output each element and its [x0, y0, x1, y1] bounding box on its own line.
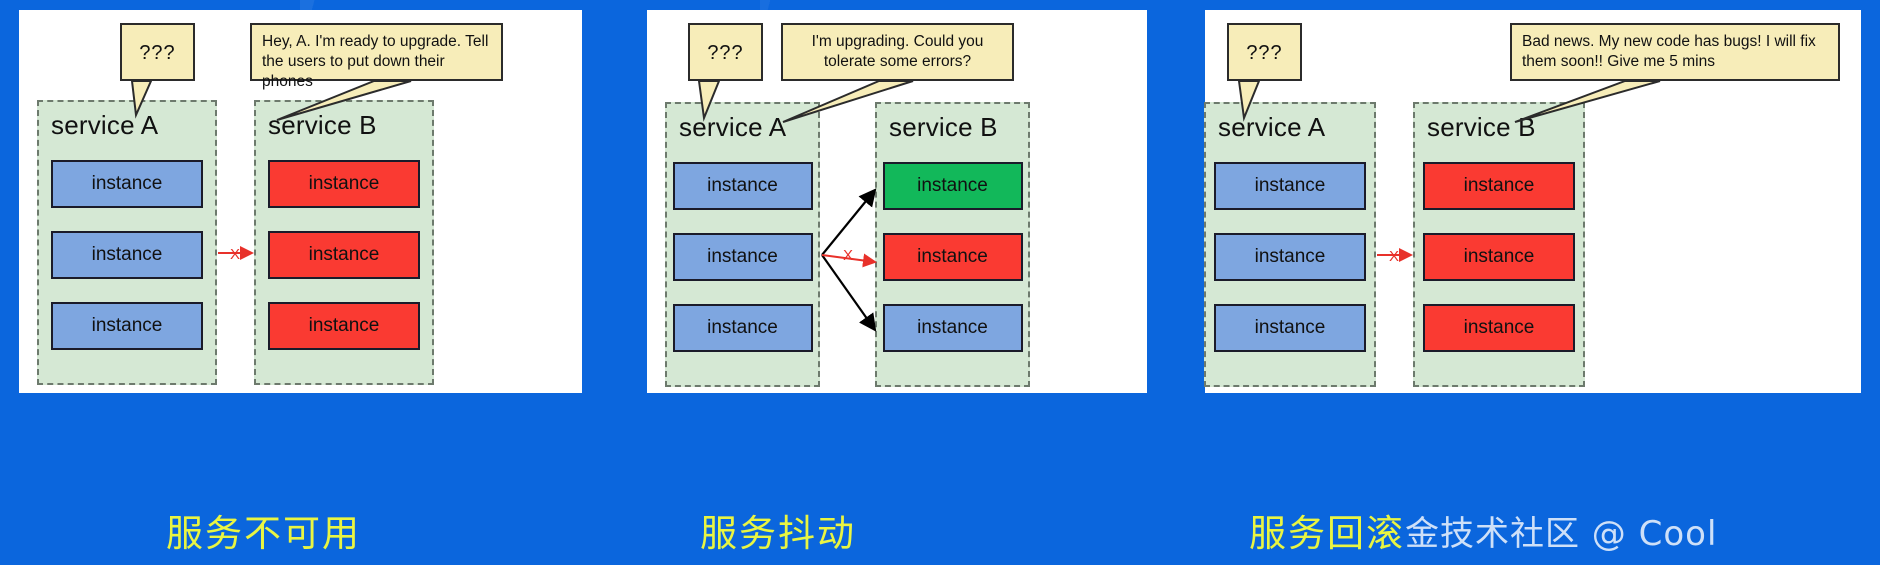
instance-label: instance [1255, 175, 1326, 197]
panel-service-jitter: ??? I'm upgrading. Could you tolerate so… [647, 10, 1147, 393]
service-b-container: service B instance instance instance [254, 100, 434, 385]
service-b-instance-3[interactable]: instance [268, 302, 420, 350]
service-b-instance-1[interactable]: instance [268, 160, 420, 208]
instance-label: instance [92, 244, 163, 266]
caption-panel-2: 服务抖动 [700, 503, 856, 557]
instance-label: instance [707, 317, 778, 339]
service-a-instance-2[interactable]: instance [673, 233, 813, 281]
service-b-title: service B [889, 112, 998, 143]
service-a-instance-2[interactable]: instance [1214, 233, 1366, 281]
service-a-title: service A [679, 112, 786, 143]
instance-label: instance [917, 246, 988, 268]
service-a-container: service A instance instance instance [37, 100, 217, 385]
instance-label: instance [1464, 246, 1535, 268]
instance-label: instance [1464, 317, 1535, 339]
service-b-container: service B instance instance instance [875, 102, 1030, 387]
service-a-container: service A instance instance instance [1204, 102, 1376, 387]
diagram-stage: ??? Hey, A. I'm ready to upgrade. Tell t… [0, 0, 1880, 565]
service-b-container: service B instance instance instance [1413, 102, 1585, 387]
speech-bubble-service-a: ??? [120, 23, 195, 81]
caption-panel-3: 服务回滚 [1249, 503, 1405, 557]
panel-service-rollback: ??? Bad news. My new code has bugs! I wi… [1205, 10, 1861, 393]
service-b-instance-2[interactable]: instance [883, 233, 1023, 281]
speech-bubble-service-a: ??? [688, 23, 763, 81]
instance-label: instance [707, 175, 778, 197]
instance-label: instance [309, 315, 380, 337]
caption-panel-1: 服务不可用 [166, 503, 361, 557]
instance-label: instance [309, 244, 380, 266]
service-b-instance-1[interactable]: instance [1423, 162, 1575, 210]
panel-service-unavailable: ??? Hey, A. I'm ready to upgrade. Tell t… [19, 10, 582, 393]
instance-label: instance [707, 246, 778, 268]
service-b-instance-2[interactable]: instance [1423, 233, 1575, 281]
instance-label: instance [917, 317, 988, 339]
service-a-instance-1[interactable]: instance [1214, 162, 1366, 210]
service-b-instance-2[interactable]: instance [268, 231, 420, 279]
service-a-container: service A instance instance instance [665, 102, 820, 387]
service-a-title: service A [1218, 112, 1325, 143]
instance-label: instance [92, 173, 163, 195]
service-b-title: service B [1427, 112, 1536, 143]
service-b-instance-1[interactable]: instance [883, 162, 1023, 210]
service-a-instance-3[interactable]: instance [1214, 304, 1366, 352]
speech-bubble-service-b: I'm upgrading. Could you tolerate some e… [781, 23, 1014, 81]
service-a-title: service A [51, 110, 158, 141]
svg-text:X: X [1389, 248, 1399, 265]
instance-label: instance [1255, 317, 1326, 339]
service-b-title: service B [268, 110, 377, 141]
speech-bubble-service-b: Bad news. My new code has bugs! I will f… [1510, 23, 1840, 81]
service-a-instance-1[interactable]: instance [673, 162, 813, 210]
instance-label: instance [309, 173, 380, 195]
service-a-instance-2[interactable]: instance [51, 231, 203, 279]
instance-label: instance [1255, 246, 1326, 268]
service-a-instance-3[interactable]: instance [673, 304, 813, 352]
instance-label: instance [1464, 175, 1535, 197]
service-b-instance-3[interactable]: instance [1423, 304, 1575, 352]
instance-label: instance [917, 175, 988, 197]
instance-label: instance [92, 315, 163, 337]
svg-text:X: X [230, 246, 240, 263]
service-a-instance-3[interactable]: instance [51, 302, 203, 350]
watermark-text: 金技术社区 @ Cool [1405, 506, 1717, 555]
service-b-instance-3[interactable]: instance [883, 304, 1023, 352]
speech-bubble-service-b: Hey, A. I'm ready to upgrade. Tell the u… [250, 23, 503, 81]
speech-bubble-service-a: ??? [1227, 23, 1302, 81]
svg-text:X: X [843, 247, 853, 264]
service-a-instance-1[interactable]: instance [51, 160, 203, 208]
